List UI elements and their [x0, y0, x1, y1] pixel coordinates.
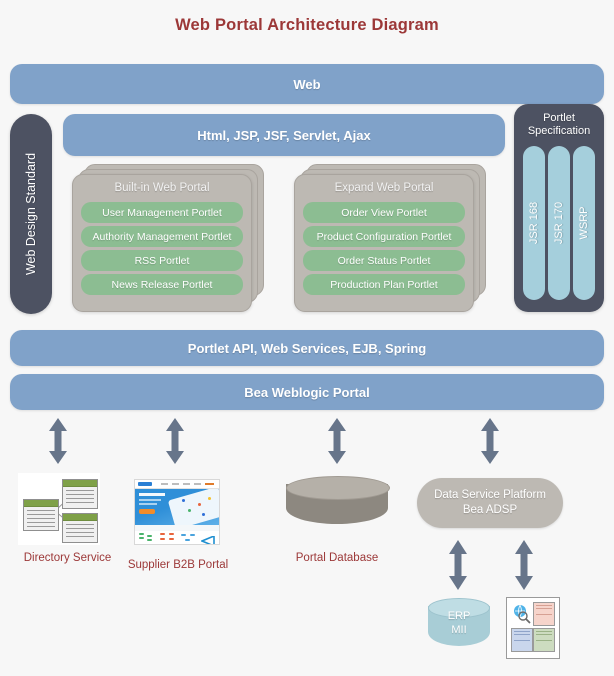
node-adsp-label-line1: Data Service Platform: [434, 488, 546, 503]
portal-group-built-in[interactable]: Built-in Web Portal User Management Port…: [72, 174, 262, 312]
layer-api-label: Portlet API, Web Services, EJB, Spring: [188, 341, 426, 356]
layer-web[interactable]: Web: [10, 64, 604, 104]
document-icon-child-2: [62, 513, 98, 543]
portlet-item[interactable]: Production Plan Portlet: [303, 274, 465, 295]
spec-column-label: WSRP: [578, 207, 590, 240]
portal-group-title: Expand Web Portal: [295, 182, 473, 194]
globe-search-icon: [511, 602, 533, 626]
connector-arrow-directory: [47, 418, 69, 464]
node-label-directory-service: Directory Service: [0, 552, 135, 564]
web-design-standard-bar[interactable]: Web Design Standard: [10, 114, 52, 314]
layer-platform[interactable]: Bea Weblogic Portal: [10, 374, 604, 410]
portal-group-expand[interactable]: Expand Web Portal Order View Portlet Pro…: [294, 174, 484, 312]
connector-arrow-erp: [447, 540, 469, 590]
spec-column-jsr168[interactable]: JSR 168: [523, 146, 545, 300]
mini-diagram-blue: [181, 533, 197, 542]
node-label-portal-database: Portal Database: [265, 552, 409, 564]
portlet-specification-title-line1: Portlet: [514, 112, 604, 125]
spec-column-jsr170[interactable]: JSR 170: [548, 146, 570, 300]
document-icon-main: [23, 499, 59, 531]
panel-green: [533, 628, 555, 652]
thumbnail-logo: [138, 482, 152, 486]
database-cylinder-icon-portal: [286, 476, 388, 532]
documents-tree-icon: [18, 473, 100, 545]
document-icon-child-1: [62, 479, 98, 509]
portlet-item[interactable]: User Management Portlet: [81, 202, 243, 223]
portlet-specification-panel[interactable]: Portlet Specification JSR 168 JSR 170 WS…: [514, 104, 604, 312]
connector-arrow-supplier: [164, 418, 186, 464]
app-grid-icon[interactable]: [506, 597, 560, 659]
web-design-standard-label: Web Design Standard: [24, 153, 38, 275]
card-stack-layer-front: Expand Web Portal Order View Portlet Pro…: [294, 174, 474, 312]
node-erp-label: ERP MII: [428, 609, 490, 637]
portlet-specification-title: Portlet Specification: [514, 112, 604, 138]
portlet-item[interactable]: Authority Management Portlet: [81, 226, 243, 247]
thumbnail-hero: [135, 489, 219, 525]
connector-arrow-app-grid: [513, 540, 535, 590]
layer-presentation-label: Html, JSP, JSF, Servlet, Ajax: [197, 128, 370, 143]
portlet-item[interactable]: RSS Portlet: [81, 250, 243, 271]
layer-web-label: Web: [293, 77, 320, 92]
portlet-specification-title-line2: Specification: [514, 125, 604, 138]
thumbnail-topbar: [135, 480, 219, 489]
mini-diagram-green: [139, 533, 155, 542]
connector-arrow-adsp: [479, 418, 501, 464]
panel-blue: [511, 628, 533, 652]
diagram-canvas: Web Portal Architecture Diagram Web Html…: [0, 0, 614, 676]
mini-diagram-arrow: [201, 533, 217, 542]
portlet-item[interactable]: Product Configuration Portlet: [303, 226, 465, 247]
panel-pink: [533, 602, 555, 626]
node-adsp-label-line2: Bea ADSP: [434, 503, 546, 518]
thumbnail-icon-row: [135, 531, 219, 544]
portlet-item[interactable]: Order Status Portlet: [303, 250, 465, 271]
node-label-supplier-b2b: Supplier B2B Portal: [118, 559, 238, 571]
portal-group-title: Built-in Web Portal: [73, 182, 251, 194]
portlet-item[interactable]: News Release Portlet: [81, 274, 243, 295]
page-title: Web Portal Architecture Diagram: [0, 16, 614, 35]
layer-api[interactable]: Portlet API, Web Services, EJB, Spring: [10, 330, 604, 366]
layer-presentation[interactable]: Html, JSP, JSF, Servlet, Ajax: [63, 114, 505, 156]
spec-column-label: JSR 168: [528, 202, 540, 244]
mini-diagram-red: [160, 533, 176, 542]
portlet-item[interactable]: Order View Portlet: [303, 202, 465, 223]
node-erp-label-line1: ERP: [428, 609, 490, 623]
spec-column-wsrp[interactable]: WSRP: [573, 146, 595, 300]
database-cylinder-icon-erp[interactable]: ERP MII: [428, 598, 490, 654]
node-erp-label-line2: MII: [428, 623, 490, 637]
layer-platform-label: Bea Weblogic Portal: [244, 385, 369, 400]
card-stack-layer-front: Built-in Web Portal User Management Port…: [72, 174, 252, 312]
website-thumbnail-icon: [134, 479, 220, 545]
node-data-service-platform[interactable]: Data Service Platform Bea ADSP: [417, 478, 563, 528]
spec-column-label: JSR 170: [553, 202, 565, 244]
connector-arrow-database: [326, 418, 348, 464]
